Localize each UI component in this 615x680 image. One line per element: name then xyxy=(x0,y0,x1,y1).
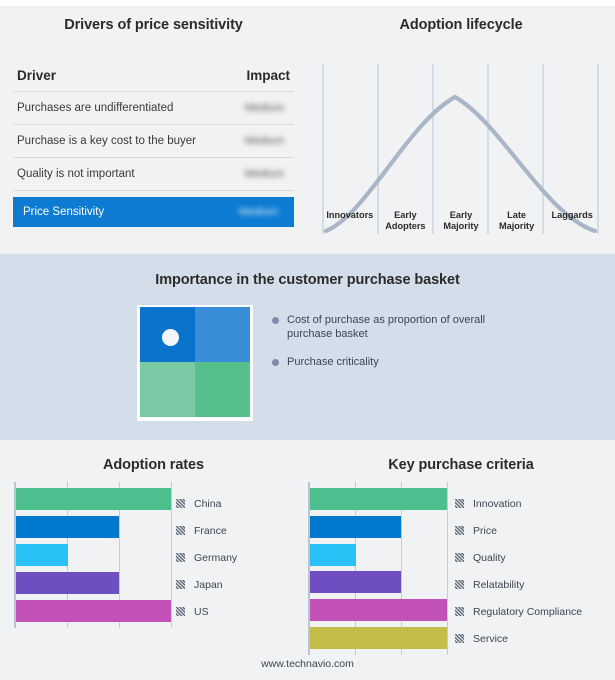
legend-label: Cost of purchase as proportion of overal… xyxy=(287,313,487,341)
table-row-highlighted[interactable]: Price Sensitivity Medium xyxy=(13,197,294,227)
hatched-square-icon xyxy=(176,607,185,616)
legend-item: US xyxy=(176,598,237,625)
driver-label: Purchase is a key cost to the buyer xyxy=(17,135,196,147)
footer-url: www.technavio.com xyxy=(0,658,615,670)
bullet-icon xyxy=(272,317,279,324)
legend-label: China xyxy=(194,498,221,510)
quadrant-bottom-right xyxy=(195,362,250,417)
legend-label: Service xyxy=(473,633,508,645)
lifecycle-stage-label: Innovators xyxy=(322,210,378,232)
bar xyxy=(310,571,401,593)
lifecycle-stage-label: Late Majority xyxy=(489,210,545,232)
hatched-square-icon xyxy=(176,553,185,562)
table-row[interactable]: Purchase is a key cost to the buyer Medi… xyxy=(13,125,294,158)
impact-value: Medium xyxy=(239,206,284,218)
table-row[interactable]: Purchases are undifferentiated Medium xyxy=(13,92,294,125)
hatched-square-icon xyxy=(455,553,464,562)
quadrant-grid xyxy=(140,307,250,417)
legend-label: Purchase criticality xyxy=(287,355,379,369)
hatched-square-icon xyxy=(455,634,464,643)
legend-label: Price xyxy=(473,525,497,537)
top-panel: Drivers of price sensitivity Driver Impa… xyxy=(0,6,615,254)
bar xyxy=(16,600,171,622)
bar-rows xyxy=(16,488,171,622)
list-item: Purchase criticality xyxy=(272,355,592,369)
lifecycle-stage-label: Early Adopters xyxy=(378,210,434,232)
legend-label: Innovation xyxy=(473,498,521,510)
adoption-rates-title: Adoption rates xyxy=(0,457,307,473)
impact-value: Medium xyxy=(245,168,290,180)
drivers-table: Driver Impact Purchases are undifferenti… xyxy=(13,68,294,227)
lifecycle-title: Adoption lifecycle xyxy=(307,17,615,33)
lifecycle-stage-label: Early Majority xyxy=(433,210,489,232)
key-criteria-plot xyxy=(308,482,447,655)
quadrant-matrix xyxy=(137,305,253,421)
hatched-square-icon xyxy=(176,526,185,535)
hatched-square-icon xyxy=(455,607,464,616)
column-header-driver: Driver xyxy=(17,68,56,83)
lifecycle-panel: Adoption lifecycle Innovators Early Adop… xyxy=(307,6,615,254)
legend-item: Relatability xyxy=(455,571,582,598)
hatched-square-icon xyxy=(455,526,464,535)
table-row[interactable]: Quality is not important Medium xyxy=(13,158,294,191)
bar xyxy=(310,516,401,538)
hatched-square-icon xyxy=(455,580,464,589)
legend-item: Germany xyxy=(176,544,237,571)
legend-label: US xyxy=(194,606,209,618)
driver-label: Purchases are undifferentiated xyxy=(17,102,173,114)
driver-label: Price Sensitivity xyxy=(23,206,104,218)
impact-value: Medium xyxy=(245,102,290,114)
list-item: Cost of purchase as proportion of overal… xyxy=(272,313,592,341)
purchase-basket-legend: Cost of purchase as proportion of overal… xyxy=(272,313,592,383)
column-header-impact: Impact xyxy=(246,68,290,83)
bullet-icon xyxy=(272,359,279,366)
bar xyxy=(16,488,171,510)
legend-label: Quality xyxy=(473,552,506,564)
bar xyxy=(16,572,119,594)
legend-item: Innovation xyxy=(455,490,582,517)
legend-item: China xyxy=(176,490,237,517)
bar xyxy=(310,599,447,621)
legend-item: Japan xyxy=(176,571,237,598)
quadrant-top-right xyxy=(195,307,250,362)
drivers-panel: Drivers of price sensitivity Driver Impa… xyxy=(0,6,307,254)
legend-item: Service xyxy=(455,625,582,652)
bar xyxy=(310,627,447,649)
drivers-title: Drivers of price sensitivity xyxy=(0,17,307,33)
drivers-table-header: Driver Impact xyxy=(13,68,294,92)
driver-label: Quality is not important xyxy=(17,168,135,180)
legend-item: France xyxy=(176,517,237,544)
adoption-rates-plot xyxy=(14,482,171,628)
key-criteria-legend: InnovationPriceQualityRelatabilityRegula… xyxy=(455,490,582,652)
legend-item: Quality xyxy=(455,544,582,571)
hatched-square-icon xyxy=(455,499,464,508)
legend-label: Regulatory Compliance xyxy=(473,606,582,618)
bar xyxy=(310,488,447,510)
legend-item: Regulatory Compliance xyxy=(455,598,582,625)
quadrant-bottom-left xyxy=(140,362,195,417)
bar xyxy=(310,544,356,566)
hatched-square-icon xyxy=(176,580,185,589)
impact-value: Medium xyxy=(245,135,290,147)
lifecycle-stage-label: Laggards xyxy=(544,210,600,232)
legend-label: Japan xyxy=(194,579,223,591)
legend-label: France xyxy=(194,525,227,537)
legend-item: Price xyxy=(455,517,582,544)
lifecycle-stage-labels: Innovators Early Adopters Early Majority… xyxy=(322,210,600,232)
legend-label: Relatability xyxy=(473,579,524,591)
bar xyxy=(16,516,119,538)
lifecycle-curve-chart xyxy=(322,64,600,234)
adoption-rates-legend: ChinaFranceGermanyJapanUS xyxy=(176,490,237,625)
legend-label: Germany xyxy=(194,552,237,564)
bar-rows xyxy=(310,488,447,649)
key-criteria-title: Key purchase criteria xyxy=(307,457,615,473)
position-marker-dot xyxy=(162,329,179,346)
purchase-basket-title: Importance in the customer purchase bask… xyxy=(0,272,615,288)
bar xyxy=(16,544,68,566)
hatched-square-icon xyxy=(176,499,185,508)
